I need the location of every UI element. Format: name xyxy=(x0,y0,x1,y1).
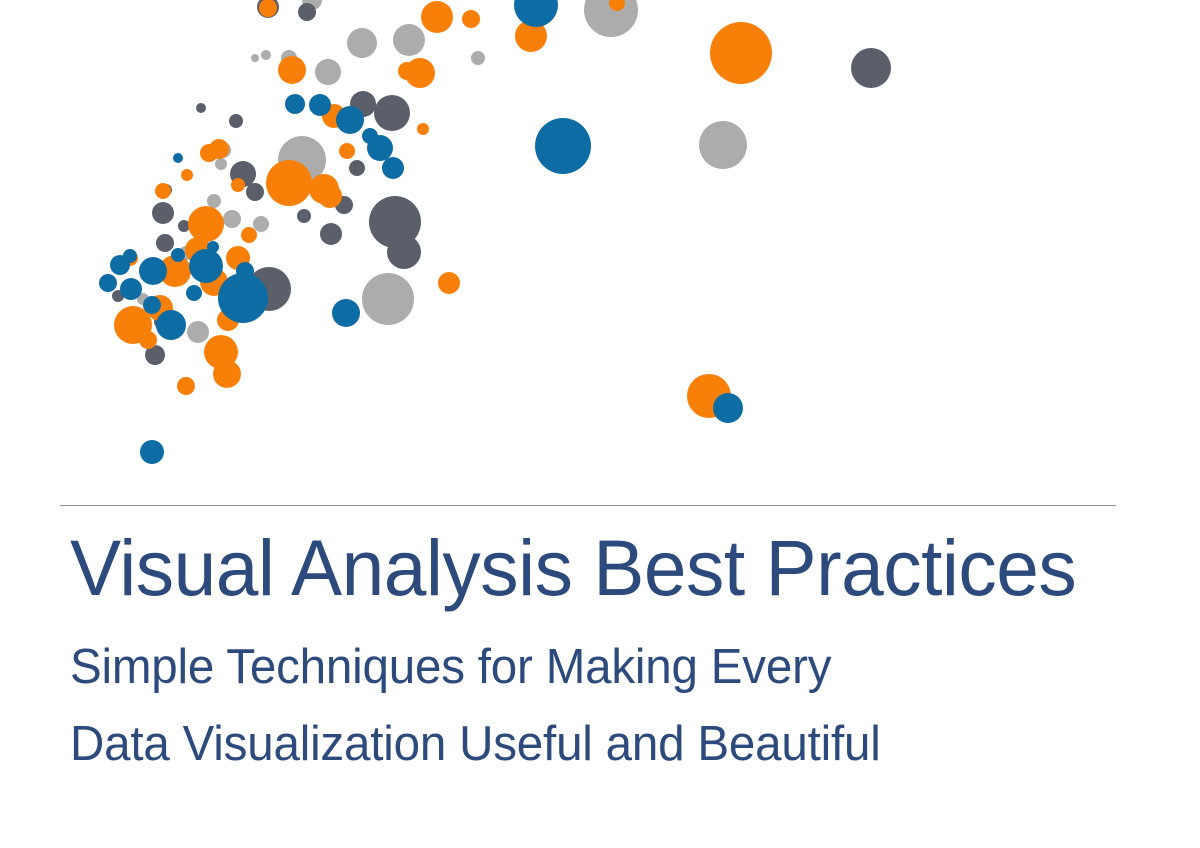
bubble-blue xyxy=(336,106,364,134)
bubble-light-gray xyxy=(215,158,227,170)
bubble-blue xyxy=(99,274,117,292)
bubble-light-gray xyxy=(261,50,271,60)
page-subtitle-line-2: Data Visualization Useful and Beautiful xyxy=(70,706,1166,783)
bubble-light-gray xyxy=(347,28,377,58)
bubble-light-gray xyxy=(223,210,241,228)
bubble-light-gray xyxy=(471,51,485,65)
bubble-blue xyxy=(218,273,268,323)
bubble-orange xyxy=(181,169,193,181)
bubble-orange xyxy=(339,143,355,159)
bubble-dark-gray xyxy=(156,234,174,252)
bubble-orange xyxy=(241,227,257,243)
bubble-orange xyxy=(438,272,460,294)
bubble-light-gray xyxy=(253,216,269,232)
bubble-blue xyxy=(120,278,142,300)
bubble-blue xyxy=(207,241,219,253)
bubble-orange xyxy=(231,178,245,192)
bubble-light-gray xyxy=(187,321,209,343)
bubble-blue xyxy=(535,118,591,174)
bubble-orange xyxy=(266,160,312,206)
bubble-light-gray xyxy=(207,194,221,208)
bubble-dark-gray xyxy=(374,95,410,131)
bubble-blue xyxy=(713,393,743,423)
bubble-dark-gray xyxy=(387,235,421,269)
bubble-chart-canvas xyxy=(0,0,1200,500)
bubble-dark-gray xyxy=(298,3,316,21)
bubble-light-gray xyxy=(251,54,259,62)
bubble-light-gray xyxy=(699,121,747,169)
bubble-light-gray xyxy=(393,24,425,56)
bubble-orange xyxy=(155,183,171,199)
bubble-blue xyxy=(382,157,404,179)
bubble-dark-gray xyxy=(152,202,174,224)
bubble-orange xyxy=(188,206,224,242)
bubble-light-gray xyxy=(362,273,414,325)
bubble-blue xyxy=(139,257,167,285)
bubble-dark-gray xyxy=(229,114,243,128)
bubble-orange xyxy=(462,10,480,28)
page-subtitle: Simple Techniques for Making Every Data … xyxy=(70,629,1200,784)
bubble-blue xyxy=(140,440,164,464)
bubble-dark-gray xyxy=(196,103,206,113)
bubble-orange xyxy=(318,184,342,208)
bubble-orange xyxy=(278,56,306,84)
bubble-blue xyxy=(189,249,223,283)
bubble-orange xyxy=(213,360,241,388)
bubble-dark-gray xyxy=(320,223,342,245)
bubble-orange xyxy=(710,22,772,84)
bubble-dark-gray xyxy=(349,160,365,176)
bubble-dark-gray xyxy=(297,209,311,223)
bubble-blue xyxy=(362,128,378,144)
bubble-blue xyxy=(514,0,558,27)
bubble-light-gray xyxy=(315,59,341,85)
page-title: Visual Analysis Best Practices xyxy=(70,528,1166,607)
bubble-blue xyxy=(156,310,186,340)
bubble-orange xyxy=(398,62,416,80)
bubble-orange xyxy=(139,331,157,349)
title-block: Visual Analysis Best Practices Simple Te… xyxy=(0,528,1200,784)
bubble-blue xyxy=(186,285,202,301)
bubble-orange xyxy=(177,377,195,395)
bubble-blue xyxy=(285,94,305,114)
bubble-orange xyxy=(417,123,429,135)
page-subtitle-line-1: Simple Techniques for Making Every xyxy=(70,629,1166,706)
bubble-series-orange xyxy=(114,0,772,418)
divider-rule xyxy=(60,505,1116,506)
bubble-blue xyxy=(309,94,331,116)
bubble-orange xyxy=(421,1,453,33)
bubble-orange xyxy=(200,144,218,162)
bubble-blue xyxy=(171,248,185,262)
bubble-blue xyxy=(123,249,137,263)
bubble-blue xyxy=(173,153,183,163)
bubble-dark-gray xyxy=(246,183,264,201)
bubble-dark-gray xyxy=(851,48,891,88)
bubble-blue xyxy=(143,296,161,314)
cover-page: Visual Analysis Best Practices Simple Te… xyxy=(0,0,1200,848)
bubble-chart xyxy=(0,0,1200,500)
bubble-blue xyxy=(332,299,360,327)
bubble-blue xyxy=(236,262,254,280)
